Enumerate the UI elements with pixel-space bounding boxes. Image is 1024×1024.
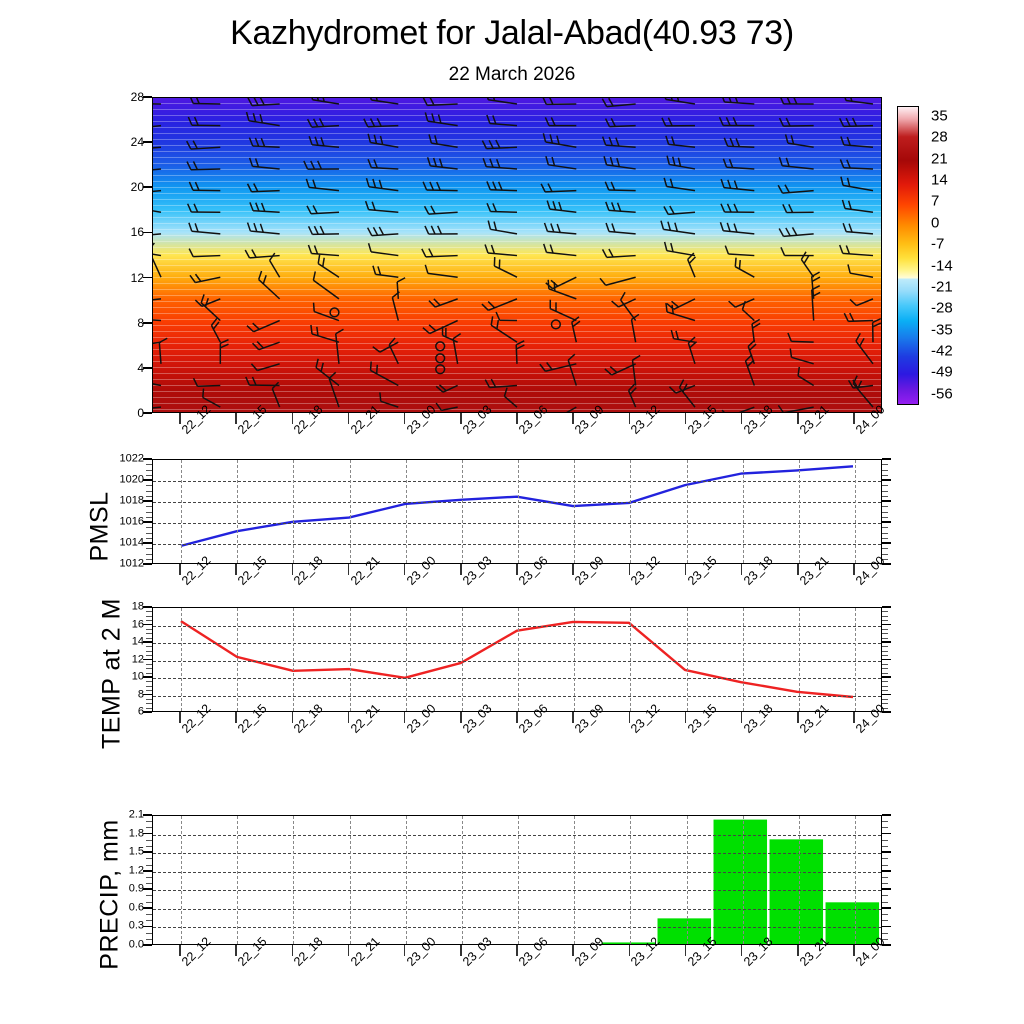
horizontal-gridline — [153, 678, 881, 679]
time-tick-mark — [404, 945, 406, 956]
wind-barb — [729, 299, 755, 307]
wind-barb — [873, 319, 881, 343]
axis-tick-mark — [882, 907, 891, 909]
vertical-gridline — [630, 816, 631, 944]
axis-tick-mark — [143, 367, 152, 369]
wind-barb — [798, 367, 814, 386]
horizontal-gridline — [153, 835, 881, 836]
axis-tick-label: 1012 — [96, 559, 144, 570]
axis-tick-mark — [882, 659, 891, 661]
axis-tick-label: 0.0 — [96, 940, 144, 951]
axis-minor-tick — [882, 533, 888, 534]
time-tick-mark — [741, 712, 743, 723]
wind-barb — [779, 227, 813, 236]
calm-wind-symbol — [436, 354, 445, 363]
axis-tick-label: 2.1 — [96, 810, 144, 821]
horizontal-gridline — [153, 523, 881, 524]
time-tick-mark — [629, 945, 631, 956]
axis-tick-mark — [143, 232, 152, 234]
wind-barb — [788, 333, 814, 342]
wind-barb — [841, 177, 873, 191]
axis-minor-tick — [146, 491, 152, 492]
wind-barb — [629, 384, 637, 407]
wind-barb — [308, 245, 339, 256]
wind-barb — [250, 202, 280, 212]
vertical-gridline — [462, 816, 463, 944]
wind-barb — [840, 159, 873, 168]
colorbar-label: -28 — [931, 300, 953, 317]
time-tick-mark — [685, 413, 687, 424]
vertical-gridline — [687, 608, 688, 711]
wind-barb — [721, 204, 754, 212]
time-tick-mark — [292, 564, 294, 575]
axis-minor-tick — [146, 673, 152, 674]
wind-barb — [311, 325, 339, 342]
axis-tick-label: 4 — [96, 362, 144, 374]
axis-tick-label: 10 — [96, 672, 144, 683]
axis-minor-tick — [146, 699, 152, 700]
wind-barb — [544, 244, 577, 256]
vertical-gridline — [350, 608, 351, 711]
pmsl-line-series — [153, 460, 881, 563]
axis-tick-mark — [882, 888, 891, 890]
time-tick-mark — [460, 564, 462, 575]
wind-barb — [547, 201, 576, 213]
wind-barb — [304, 161, 339, 169]
axis-minor-tick — [882, 496, 888, 497]
axis-tick-label: 24 — [96, 136, 144, 148]
wind-barb — [494, 257, 517, 277]
axis-minor-tick — [882, 821, 888, 822]
axis-tick-label: 1018 — [96, 496, 144, 507]
wind-barb — [748, 340, 756, 364]
axis-tick-mark — [882, 926, 891, 928]
horizontal-gridline — [153, 890, 881, 891]
axis-tick-mark — [143, 186, 152, 188]
axis-minor-tick — [146, 554, 152, 555]
axis-tick-mark — [143, 277, 152, 279]
axis-tick-label: 0.9 — [96, 884, 144, 895]
axis-tick-mark — [882, 542, 891, 544]
vertical-gridline — [630, 460, 631, 563]
wind-barb — [306, 179, 339, 191]
axis-minor-tick — [146, 827, 152, 828]
time-tick-mark — [235, 413, 237, 424]
time-tick-mark — [853, 564, 855, 575]
axis-minor-tick — [882, 827, 888, 828]
wind-barb — [153, 310, 161, 320]
axis-minor-tick — [146, 840, 152, 841]
wind-barb — [329, 372, 339, 407]
calm-wind-symbol — [330, 308, 339, 317]
time-tick-mark — [179, 564, 181, 575]
wind-barb — [366, 178, 398, 190]
wind-barb — [153, 98, 161, 104]
axis-tick-label: 0.6 — [96, 902, 144, 913]
axis-tick-label: 28 — [96, 91, 144, 103]
axis-tick-label: 12 — [96, 654, 144, 665]
axis-tick-mark — [882, 521, 891, 523]
pmsl-line — [181, 466, 853, 546]
wind-barb — [664, 178, 695, 191]
wind-barb — [723, 159, 754, 169]
wind-barb — [679, 380, 695, 408]
axis-tick-label: 14 — [96, 637, 144, 648]
wind-barb — [604, 156, 636, 169]
temperature-colorbar — [897, 106, 919, 405]
wind-barb — [786, 134, 814, 147]
wind-barb — [504, 388, 517, 407]
axis-minor-tick — [146, 865, 152, 866]
wind-barb — [250, 158, 280, 169]
axis-tick-mark — [143, 888, 152, 890]
wind-barb — [389, 338, 398, 364]
time-tick-mark — [516, 413, 518, 424]
vertical-gridline — [181, 460, 182, 563]
axis-minor-tick — [146, 633, 152, 634]
axis-minor-tick — [882, 668, 888, 669]
vertical-gridline — [518, 460, 519, 563]
axis-minor-tick — [146, 703, 152, 704]
axis-tick-label: 1.2 — [96, 865, 144, 876]
axis-tick-mark — [882, 606, 891, 608]
wind-barb — [545, 223, 577, 234]
time-tick-mark — [853, 945, 855, 956]
axis-minor-tick — [882, 548, 888, 549]
wind-barb — [373, 266, 398, 277]
wind-barb — [211, 318, 220, 342]
wind-barb — [722, 407, 754, 412]
axis-tick-mark — [143, 542, 152, 544]
time-tick-mark — [179, 945, 181, 956]
axis-minor-tick — [882, 629, 888, 630]
wind-barb — [483, 158, 517, 169]
axis-tick-label: 0 — [96, 407, 144, 419]
time-tick-mark — [629, 413, 631, 424]
wind-barb — [487, 115, 517, 126]
axis-minor-tick — [882, 616, 888, 617]
wind-barb — [485, 379, 517, 387]
wind-barb — [309, 136, 339, 147]
colorbar-label: -56 — [931, 385, 953, 402]
time-tick-mark — [516, 945, 518, 956]
axis-minor-tick — [882, 512, 888, 513]
axis-minor-tick — [146, 858, 152, 859]
axis-tick-mark — [143, 641, 152, 643]
vertical-gridline — [350, 460, 351, 563]
wind-barb — [790, 348, 813, 363]
page-title: Kazhydromet for Jalal-Abad(40.93 73) — [0, 14, 1024, 53]
time-tick-mark — [348, 413, 350, 424]
time-tick-mark — [572, 564, 574, 575]
wind-barb — [541, 184, 576, 192]
axis-minor-tick — [146, 933, 152, 934]
axis-minor-tick — [882, 673, 888, 674]
axis-minor-tick — [146, 651, 152, 652]
axis-tick-label: 1.5 — [96, 847, 144, 858]
wind-barb — [662, 118, 695, 126]
wind-barb — [247, 112, 280, 126]
wind-barb — [516, 341, 524, 364]
axis-tick-label: 16 — [96, 619, 144, 630]
axis-minor-tick — [146, 681, 152, 682]
horizontal-gridline — [153, 481, 881, 482]
temp-line — [181, 621, 853, 697]
wind-barb — [201, 294, 220, 320]
axis-tick-mark — [143, 521, 152, 523]
wind-barb — [364, 118, 398, 127]
axis-tick-mark — [143, 322, 152, 324]
vertical-gridline — [855, 816, 856, 944]
wind-barb — [543, 133, 576, 147]
wind-barb — [632, 355, 640, 385]
axis-minor-tick — [146, 527, 152, 528]
wind-barb — [425, 226, 458, 234]
axis-tick-label: 8 — [96, 317, 144, 329]
wind-barb — [606, 118, 636, 126]
axis-tick-label: 6 — [96, 707, 144, 718]
vertical-gridline — [574, 816, 575, 944]
wind-barb — [153, 243, 161, 277]
wind-barb — [153, 293, 161, 301]
time-tick-mark — [741, 564, 743, 575]
axis-minor-tick — [146, 895, 152, 896]
colorbar-label: -14 — [931, 257, 953, 274]
axis-minor-tick — [882, 895, 888, 896]
wind-barb — [436, 403, 458, 410]
wind-barb — [189, 223, 220, 234]
vertical-gridline — [293, 608, 294, 711]
vertical-gridline — [462, 460, 463, 563]
wind-barb — [663, 98, 695, 104]
time-tick-mark — [853, 712, 855, 723]
wind-barb — [841, 136, 873, 147]
vertical-gridline — [630, 608, 631, 711]
horizontal-gridline — [153, 927, 881, 928]
time-tick-mark — [460, 712, 462, 723]
wind-barb — [366, 201, 399, 212]
page-subtitle: 22 March 2026 — [0, 64, 1024, 86]
wind-barb — [247, 321, 280, 332]
time-tick-mark — [516, 712, 518, 723]
wind-barb — [546, 277, 577, 288]
time-tick-mark — [797, 945, 799, 956]
axis-tick-mark — [143, 96, 152, 98]
vertical-gridline — [462, 608, 463, 711]
wind-barb — [600, 277, 636, 285]
wind-barb — [485, 244, 517, 255]
time-tick-mark — [685, 945, 687, 956]
axis-tick-mark — [143, 676, 152, 678]
colorbar-label: 7 — [931, 193, 939, 210]
wind-barb — [720, 222, 754, 234]
time-tick-mark — [797, 413, 799, 424]
axis-minor-tick — [882, 651, 888, 652]
axis-minor-tick — [146, 517, 152, 518]
vertical-gridline — [743, 608, 744, 711]
wind-barb — [307, 205, 339, 213]
horizontal-gridline — [153, 872, 881, 873]
axis-tick-mark — [143, 624, 152, 626]
wind-barb — [249, 138, 279, 148]
axis-minor-tick — [146, 708, 152, 709]
wind-barb — [187, 161, 220, 169]
wind-barb — [251, 364, 279, 371]
wind-barb — [742, 301, 754, 320]
wind-barb — [545, 117, 576, 125]
weather-meteogram-page: Kazhydromet for Jalal-Abad(40.93 73) 22 … — [0, 0, 1024, 1024]
time-tick-mark — [348, 712, 350, 723]
axis-minor-tick — [882, 699, 888, 700]
wind-barb — [752, 319, 760, 342]
time-tick-mark — [404, 564, 406, 575]
wind-barb — [605, 364, 636, 375]
colorbar-label: 0 — [931, 214, 939, 231]
wind-barb — [310, 98, 339, 104]
time-tick-mark — [460, 413, 462, 424]
axis-minor-tick — [882, 620, 888, 621]
wind-barb — [780, 118, 814, 126]
upper-air-cross-section-panel — [152, 97, 882, 413]
time-tick-mark — [235, 945, 237, 956]
wind-barb — [605, 182, 635, 191]
wind-barb — [189, 249, 220, 257]
axis-minor-tick — [882, 686, 888, 687]
wind-barb — [688, 253, 696, 277]
wind-barb — [780, 98, 814, 104]
axis-minor-tick — [146, 475, 152, 476]
wind-barb — [488, 221, 517, 234]
axis-tick-mark — [882, 676, 891, 678]
wind-barb — [425, 265, 457, 277]
axis-tick-mark — [143, 141, 152, 143]
wind-barb — [369, 243, 399, 255]
horizontal-gridline — [153, 696, 881, 697]
wind-barb — [840, 245, 873, 256]
axis-tick-mark — [143, 659, 152, 661]
axis-tick-mark — [143, 944, 152, 946]
wind-barb — [443, 326, 458, 342]
wind-barb — [546, 156, 576, 169]
axis-minor-tick — [146, 538, 152, 539]
wind-barb — [246, 377, 280, 386]
axis-tick-mark — [882, 870, 891, 872]
axis-minor-tick — [146, 506, 152, 507]
axis-minor-tick — [146, 548, 152, 549]
axis-tick-mark — [882, 694, 891, 696]
wind-barb — [336, 329, 344, 364]
axis-minor-tick — [882, 865, 888, 866]
axis-minor-tick — [882, 846, 888, 847]
wind-barb — [778, 185, 813, 193]
axis-minor-tick — [146, 821, 152, 822]
vertical-gridline — [574, 608, 575, 711]
wind-barb — [380, 392, 398, 407]
axis-tick-mark — [882, 479, 891, 481]
wind-barb — [429, 299, 458, 307]
axis-tick-mark — [882, 814, 891, 816]
wind-barb — [606, 202, 636, 212]
axis-tick-mark — [143, 694, 152, 696]
vertical-gridline — [743, 460, 744, 563]
vertical-gridline — [799, 608, 800, 711]
horizontal-gridline — [153, 853, 881, 854]
axis-minor-tick — [882, 638, 888, 639]
vertical-gridline — [237, 816, 238, 944]
time-tick-mark — [179, 413, 181, 424]
wind-barb — [220, 340, 228, 364]
contour-plot-area — [153, 98, 881, 412]
vertical-gridline — [574, 460, 575, 563]
time-tick-mark — [235, 712, 237, 723]
wind-barb — [631, 314, 638, 342]
axis-minor-tick — [146, 920, 152, 921]
axis-tick-label: 18 — [96, 602, 144, 613]
axis-minor-tick — [146, 559, 152, 560]
vertical-gridline — [237, 608, 238, 711]
axis-minor-tick — [882, 920, 888, 921]
axis-tick-mark — [143, 479, 152, 481]
wind-barb — [369, 98, 398, 104]
vertical-gridline — [181, 608, 182, 711]
time-tick-mark — [516, 564, 518, 575]
axis-minor-tick — [146, 646, 152, 647]
axis-minor-tick — [882, 877, 888, 878]
axis-minor-tick — [882, 475, 888, 476]
wind-barb — [259, 271, 280, 299]
wind-barb — [190, 274, 220, 282]
wind-barb — [843, 223, 873, 234]
wind-barb — [368, 134, 398, 148]
axis-tick-label: 1016 — [96, 517, 144, 528]
axis-minor-tick — [146, 629, 152, 630]
axis-minor-tick — [882, 554, 888, 555]
vertical-gridline — [237, 460, 238, 563]
wind-barb — [725, 246, 754, 256]
temp-panel — [152, 607, 882, 712]
colorbar-label: 35 — [931, 108, 948, 125]
wind-barb — [153, 185, 161, 193]
wind-barb — [542, 98, 576, 104]
wind-barb — [153, 401, 161, 409]
wind-barb — [853, 376, 873, 408]
wind-barb — [603, 137, 636, 148]
axis-minor-tick — [146, 846, 152, 847]
axis-tick-label: 0.3 — [96, 921, 144, 932]
axis-minor-tick — [146, 655, 152, 656]
wind-barb — [397, 278, 405, 299]
wind-barb — [159, 338, 167, 364]
axis-tick-mark — [143, 412, 152, 414]
axis-minor-tick — [882, 681, 888, 682]
time-tick-mark — [629, 712, 631, 723]
axis-minor-tick — [882, 858, 888, 859]
time-tick-mark — [404, 712, 406, 723]
time-tick-mark — [685, 712, 687, 723]
axis-tick-mark — [882, 851, 891, 853]
horizontal-gridline — [153, 544, 881, 545]
time-tick-mark — [572, 945, 574, 956]
axis-minor-tick — [146, 464, 152, 465]
colorbar-label: -21 — [931, 278, 953, 295]
vertical-gridline — [293, 460, 294, 563]
wind-barb — [436, 385, 457, 392]
wind-barb — [724, 138, 754, 147]
wind-barb — [308, 118, 339, 127]
axis-tick-mark — [143, 851, 152, 853]
wind-barb — [425, 206, 458, 214]
axis-minor-tick — [882, 485, 888, 486]
